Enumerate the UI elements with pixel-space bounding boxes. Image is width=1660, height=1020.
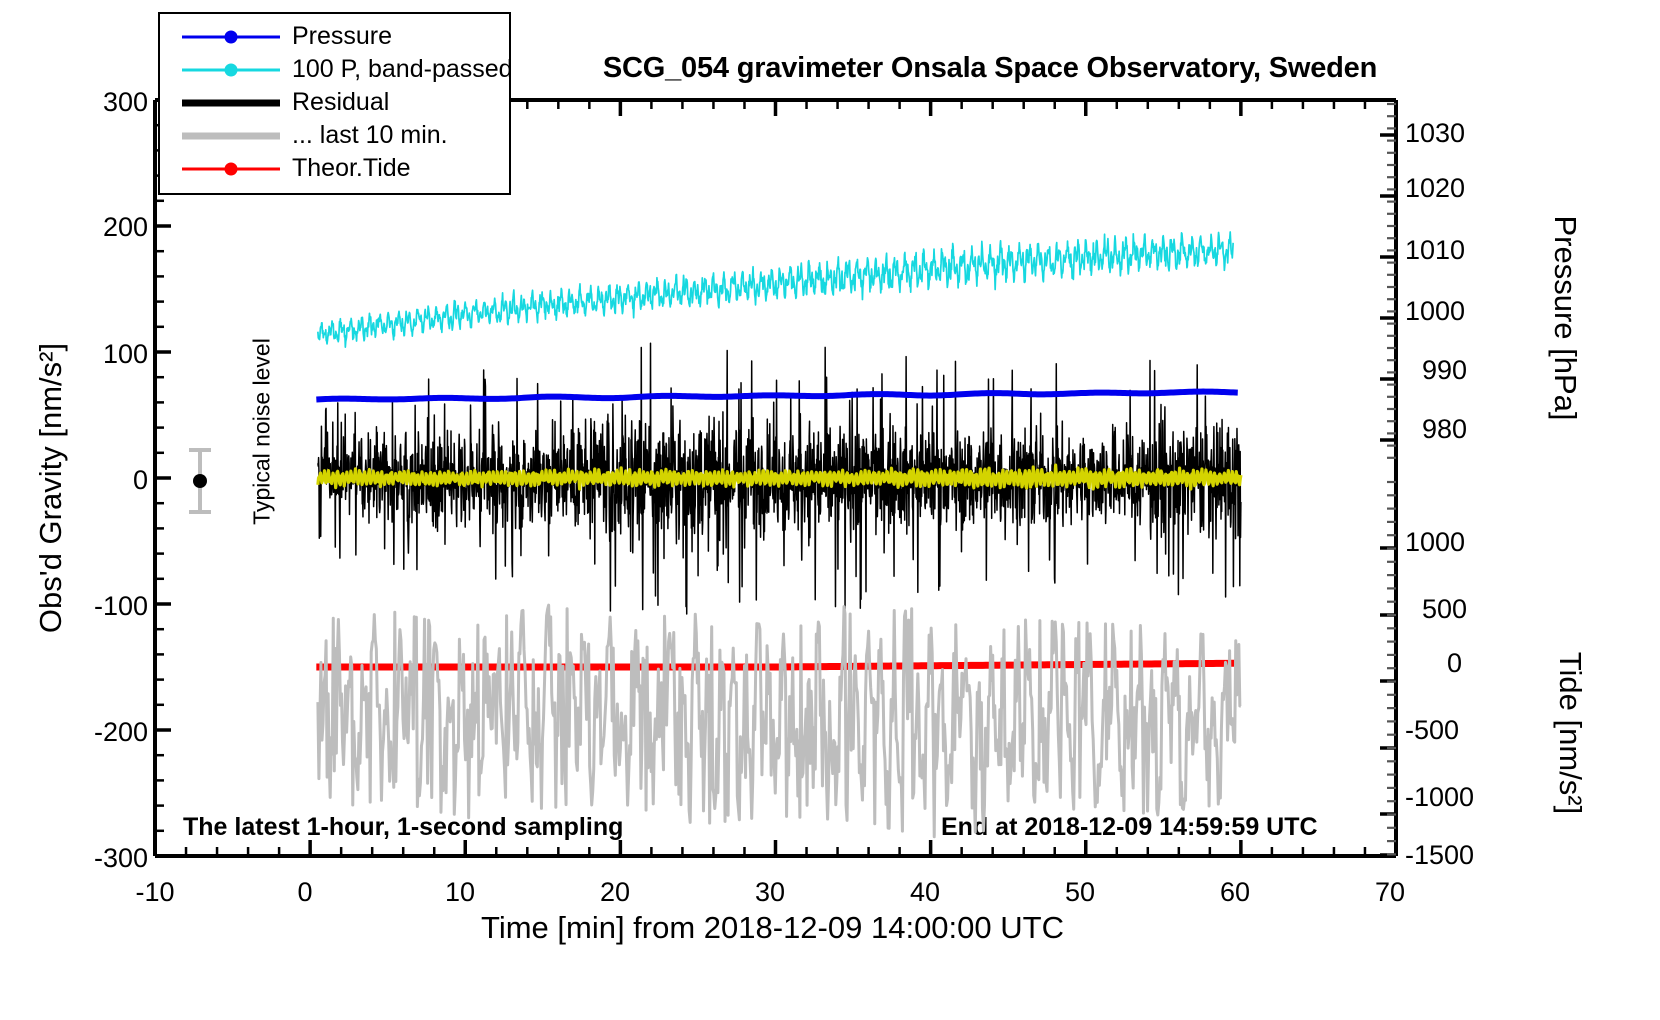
legend-label-residual: Residual — [280, 88, 389, 117]
legend-swatch-last10min-icon — [182, 125, 280, 147]
legend-item-last10min: ... last 10 min. — [160, 119, 509, 152]
legend-label-pressure: Pressure — [280, 22, 392, 51]
legend-label-last10min: ... last 10 min. — [280, 121, 448, 150]
legend-item-theortide: Theor.Tide — [160, 152, 509, 185]
data-traces — [316, 232, 1241, 837]
noise-level-marker — [189, 450, 211, 512]
legend-swatch-bandpassed-icon — [182, 59, 280, 81]
legend-swatch-residual-icon — [182, 92, 280, 114]
legend: Pressure 100 P, band-passed Residual ...… — [158, 12, 511, 195]
legend-label-theortide: Theor.Tide — [280, 154, 411, 183]
gravimeter-plot: SCG_054 gravimeter Onsala Space Observat… — [0, 0, 1660, 1020]
legend-swatch-pressure-icon — [182, 26, 280, 48]
legend-item-residual: Residual — [160, 86, 509, 119]
legend-item-bandpassed: 100 P, band-passed — [160, 53, 509, 86]
legend-item-pressure: Pressure — [160, 20, 509, 53]
legend-label-bandpassed: 100 P, band-passed — [280, 55, 513, 84]
legend-swatch-theortide-icon — [182, 158, 280, 180]
